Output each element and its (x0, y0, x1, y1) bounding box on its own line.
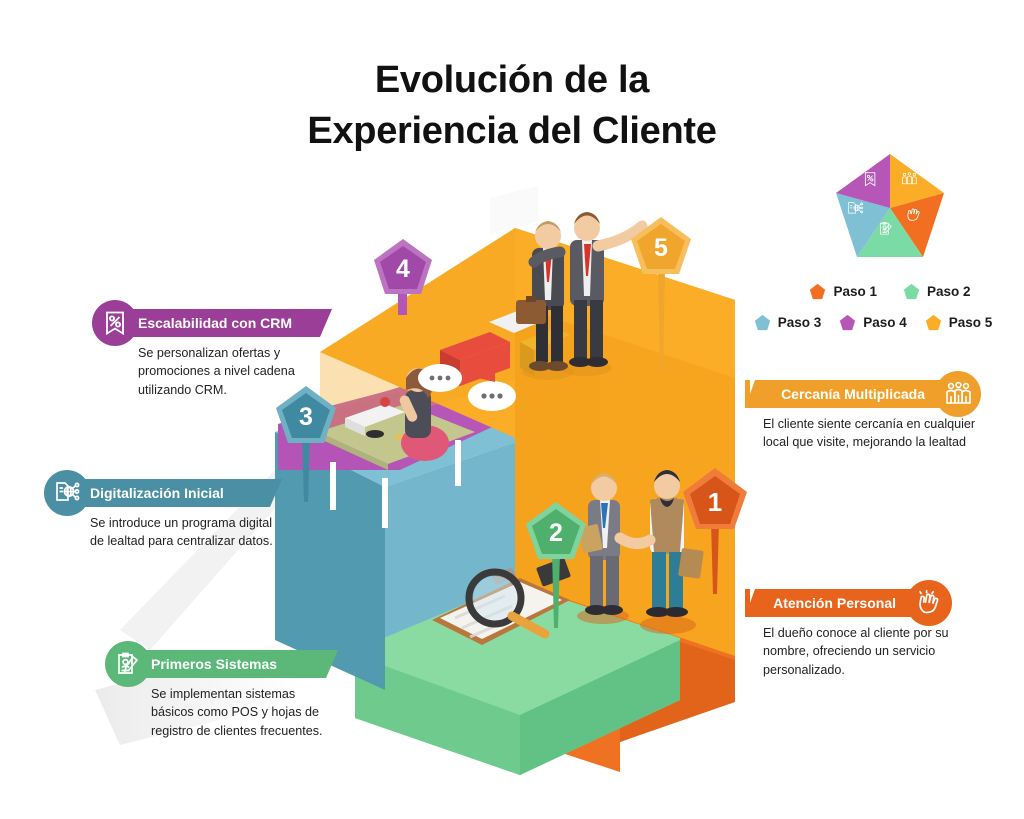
callout-step-3-body: Se introduce un programa digital de leal… (44, 507, 282, 551)
legend-pentagon-chart (830, 152, 950, 267)
callout-step-4-title: Escalabilidad con CRM (138, 315, 292, 331)
pentagon-swatch-icon (809, 283, 826, 300)
infographic-root: Evolución de la Experiencia del Cliente (0, 0, 1024, 819)
callout-step-2-body: Se implementan sistemas básicos como POS… (105, 678, 338, 740)
callout-step-5-body: El cliente siente cercanía en cualquier … (745, 408, 981, 452)
pentagon-swatch-icon (903, 283, 920, 300)
legend-label-paso-5: Paso 5 (949, 315, 993, 330)
network-document-icon (44, 470, 90, 516)
step-pin-3[interactable]: 3 (274, 384, 338, 504)
legend-row-2: Paso 3 Paso 4 Paso 5 (756, 314, 990, 331)
legend-item-paso-3[interactable]: Paso 3 (754, 314, 822, 331)
callout-step-2-title: Primeros Sistemas (151, 656, 277, 672)
percent-ribbon-icon (92, 300, 138, 346)
callout-step-5-title: Cercanía Multiplicada (781, 386, 925, 402)
legend-item-paso-5[interactable]: Paso 5 (925, 314, 993, 331)
legend: Paso 1 Paso 2 Paso 3 Paso 4 Pa (790, 152, 990, 331)
callout-step-2[interactable]: Primeros Sistemas Se implementan sistema… (105, 650, 338, 740)
callout-step-1[interactable]: Atención Personal El dueño conoce al cli… (745, 589, 952, 679)
step-pin-2[interactable]: 2 (524, 500, 588, 630)
callout-step-1-body: El dueño conoce al cliente por su nombre… (745, 617, 952, 679)
step-pin-4[interactable]: 4 (372, 237, 434, 315)
people-group-icon (935, 371, 981, 417)
legend-row-1: Paso 1 Paso 2 (790, 283, 990, 300)
legend-item-paso-2[interactable]: Paso 2 (903, 283, 971, 300)
callout-step-1-title: Atención Personal (773, 595, 896, 611)
legend-label-paso-1: Paso 1 (833, 284, 877, 299)
clipboard-person-icon (105, 641, 151, 687)
step-pin-5[interactable]: 5 (629, 215, 693, 375)
callout-step-4-body: Se personalizan ofertas y promociones a … (92, 337, 332, 399)
legend-label-paso-4: Paso 4 (863, 315, 907, 330)
callout-step-5[interactable]: Cercanía Multiplicada El cliente siente … (745, 380, 981, 452)
clapping-hands-icon (906, 580, 952, 626)
pentagon-swatch-icon (839, 314, 856, 331)
step-pin-1[interactable]: 1 (681, 466, 749, 596)
legend-item-paso-4[interactable]: Paso 4 (839, 314, 907, 331)
legend-label-paso-3: Paso 3 (778, 315, 822, 330)
pentagon-swatch-icon (754, 314, 771, 331)
callout-step-3-title: Digitalización Inicial (90, 485, 224, 501)
legend-item-paso-1[interactable]: Paso 1 (809, 283, 877, 300)
callout-step-3[interactable]: Digitalización Inicial Se introduce un p… (44, 479, 282, 551)
pentagon-swatch-icon (925, 314, 942, 331)
callout-step-4[interactable]: Escalabilidad con CRM Se personalizan of… (92, 309, 332, 399)
legend-items: Paso 1 Paso 2 Paso 3 Paso 4 Pa (790, 283, 990, 331)
legend-label-paso-2: Paso 2 (927, 284, 971, 299)
